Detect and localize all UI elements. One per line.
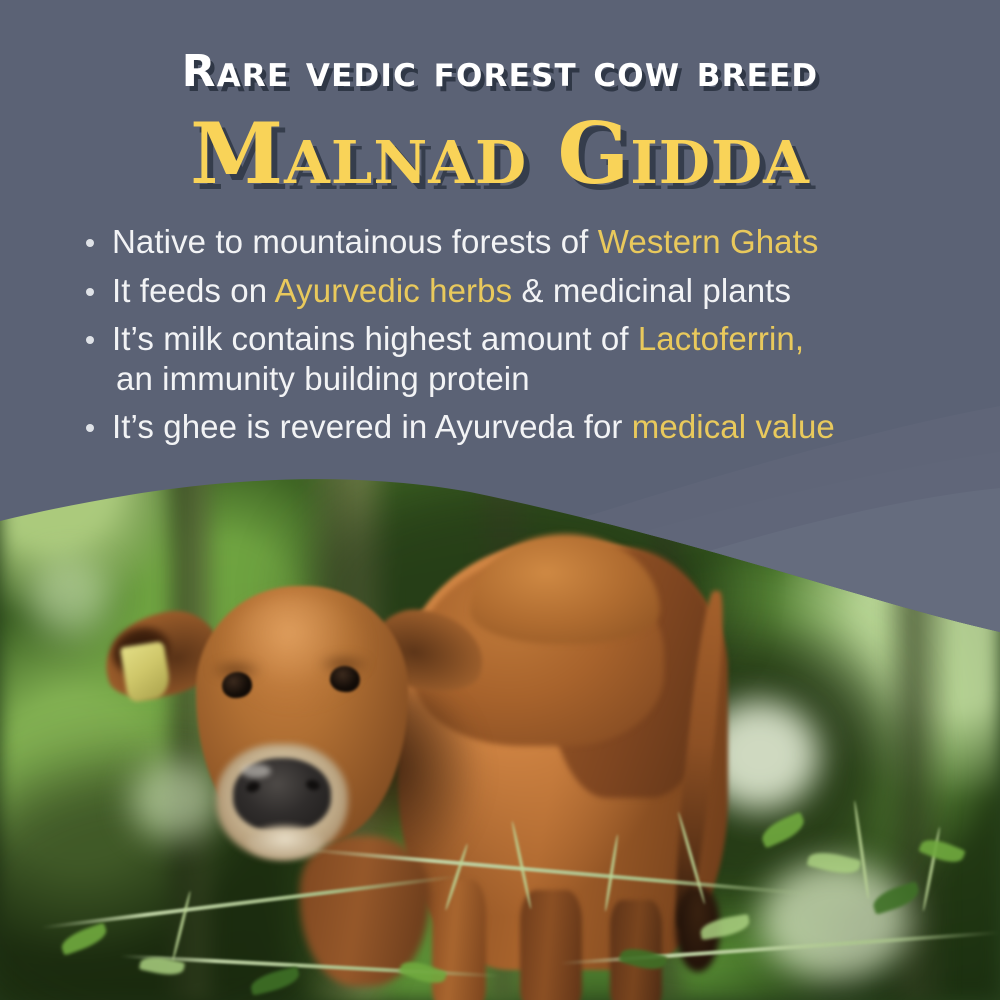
bullet-text-pre: It’s ghee is revered in Ayurveda for <box>112 408 632 445</box>
grass-blade <box>677 811 706 904</box>
bullet-text-accent: Western Ghats <box>598 223 819 260</box>
bullet-text-pre: It’s milk contains highest amount of <box>112 320 638 357</box>
list-item: It feeds on Ayurvedic herbs & medicinal … <box>78 271 958 311</box>
bullet-text-pre: Native to mountainous forests of <box>112 223 598 260</box>
grass-blade <box>171 891 191 962</box>
foliage-leaf <box>58 922 109 955</box>
poster-text-content: Rare vedic forest cow breed Malnad Gidda… <box>0 0 1000 500</box>
bullet-dot-icon <box>86 288 94 296</box>
list-item: It’s ghee is revered in Ayurveda for med… <box>78 407 958 447</box>
foliage-leaf <box>618 944 667 974</box>
bullet-dot-icon <box>86 336 94 344</box>
fact-list: Native to mountainous forests of Western… <box>78 222 958 456</box>
list-item: Native to mountainous forests of Western… <box>78 222 958 262</box>
bullet-text-pre: It feeds on <box>112 272 275 309</box>
foliage-leaf <box>870 881 922 915</box>
bullet-text-accent: Ayurvedic herbs <box>275 272 513 309</box>
grass-vine <box>301 847 819 896</box>
grass-blade <box>604 834 619 912</box>
foliage-leaf <box>807 848 862 878</box>
page-title: Malnad Gidda <box>0 104 1000 203</box>
list-item: It’s milk contains highest amount of Lac… <box>78 319 958 398</box>
infographic-poster: Rare vedic forest cow breed Malnad Gidda… <box>0 0 1000 1000</box>
bullet-dot-icon <box>86 239 94 247</box>
foliage-leaf <box>918 834 966 867</box>
bullet-text-continuation: an immunity building protein <box>112 359 958 399</box>
foliage-leaf <box>398 957 447 989</box>
bullet-text-post: & medicinal plants <box>512 272 791 309</box>
foliage-leaf <box>249 966 302 996</box>
bullet-text-accent: medical value <box>632 408 835 445</box>
foreground-grass <box>0 750 1000 1000</box>
bullet-text-accent: Lactoferrin, <box>638 320 804 357</box>
grass-vine <box>41 874 458 929</box>
bullet-dot-icon <box>86 424 94 432</box>
foliage-leaf <box>699 914 751 940</box>
grass-blade <box>853 800 870 899</box>
kicker-title: Rare vedic forest cow breed <box>0 46 1000 97</box>
foliage-leaf <box>758 812 808 849</box>
